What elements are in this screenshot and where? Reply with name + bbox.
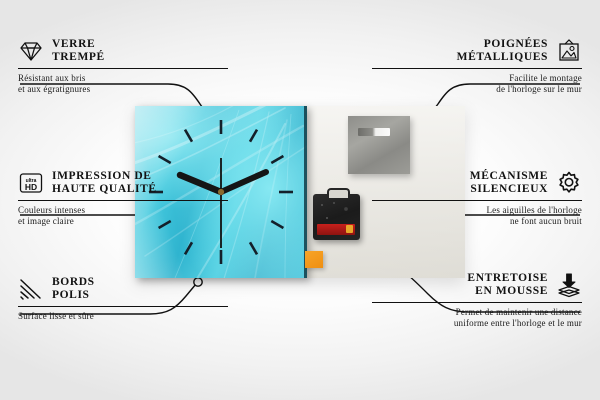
feature-impression-haute-qualite: ultra HD IMPRESSION DE HAUTE QUALITÉ Cou… bbox=[18, 170, 228, 227]
feature-description: Résistant aux bris et aux égratignures bbox=[18, 73, 228, 95]
svg-text:HD: HD bbox=[25, 182, 37, 192]
feature-bords-polis: BORDS POLIS Surface lisse et sûre bbox=[18, 276, 228, 322]
foam-spacer bbox=[305, 251, 323, 268]
divider bbox=[18, 306, 228, 307]
feature-title: BORDS POLIS bbox=[52, 276, 95, 302]
arrow-down-onto-pad-icon bbox=[556, 272, 582, 298]
metal-mounting-plate bbox=[348, 116, 410, 174]
divider bbox=[372, 68, 582, 69]
feature-title: POIGNÉES MÉTALLIQUES bbox=[457, 38, 548, 64]
divider bbox=[372, 200, 582, 201]
diamond-icon bbox=[18, 38, 44, 64]
feature-title: ENTRETOISE EN MOUSSE bbox=[467, 272, 548, 298]
mechanism-hanging-tab bbox=[327, 188, 350, 198]
plate-keyhole-slot bbox=[358, 128, 390, 136]
battery bbox=[317, 224, 355, 235]
infographic-canvas: VERRE TREMPÉ Résistant aux bris et aux é… bbox=[0, 0, 600, 400]
feature-title: IMPRESSION DE HAUTE QUALITÉ bbox=[52, 170, 157, 196]
polished-edge-lines-icon bbox=[18, 276, 44, 302]
feature-title: VERRE TREMPÉ bbox=[52, 38, 105, 64]
feature-description: Surface lisse et sûre bbox=[18, 311, 228, 322]
silent-clock-mechanism bbox=[313, 194, 360, 240]
divider bbox=[18, 68, 228, 69]
picture-frame-hanger-icon bbox=[556, 38, 582, 64]
feature-description: Les aiguilles de l'horloge ne font aucun… bbox=[372, 205, 582, 227]
feature-verre-trempe: VERRE TREMPÉ Résistant aux bris et aux é… bbox=[18, 38, 228, 95]
divider bbox=[18, 200, 228, 201]
feature-description: Permet de maintenir une distance uniform… bbox=[372, 307, 582, 329]
gear-icon bbox=[556, 170, 582, 196]
mechanism-detail bbox=[318, 200, 352, 226]
feature-poignees-metalliques: POIGNÉES MÉTALLIQUES Facilite le montage… bbox=[372, 38, 582, 95]
feature-mecanisme-silencieux: MÉCANISME SILENCIEUX Les aiguilles de l'… bbox=[372, 170, 582, 227]
divider bbox=[372, 302, 582, 303]
battery-terminal bbox=[346, 225, 353, 233]
ultra-hd-badge-icon: ultra HD bbox=[18, 170, 44, 196]
feature-description: Couleurs intenses et image claire bbox=[18, 205, 228, 227]
feature-description: Facilite le montage de l'horloge sur le … bbox=[372, 73, 582, 95]
feature-title: MÉCANISME SILENCIEUX bbox=[470, 170, 548, 196]
feature-entretoise-en-mousse: ENTRETOISE EN MOUSSE Permet de maintenir… bbox=[372, 272, 582, 329]
